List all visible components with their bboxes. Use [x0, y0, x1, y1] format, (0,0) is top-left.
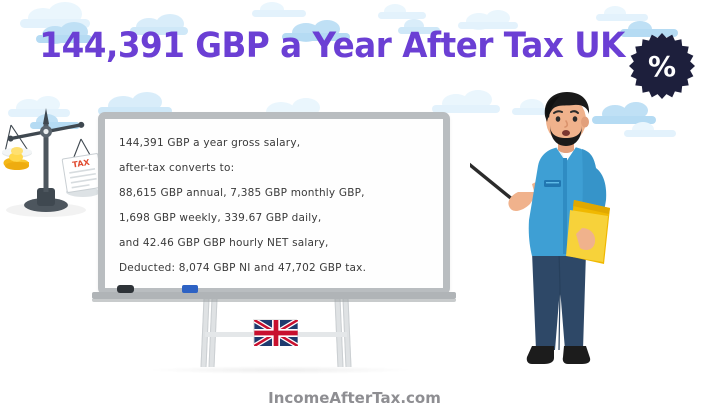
board-line: 1,698 GBP weekly, 339.67 GBP daily, [119, 206, 433, 231]
marker-icon [182, 285, 198, 293]
cloud-decoration [624, 120, 680, 138]
board-line: Deducted: 8,074 GBP NI and 47,702 GBP ta… [119, 256, 433, 281]
board-line: 144,391 GBP a year gross salary, [119, 131, 433, 156]
board-line: 88,615 GBP annual, 7,385 GBP monthly GBP… [119, 181, 433, 206]
teacher-character [470, 92, 620, 377]
eraser-icon [117, 285, 134, 293]
infographic-canvas: 144,391 GBP a Year After Tax UK % [0, 0, 709, 419]
board-line: after-tax converts to: [119, 156, 433, 181]
site-footer: IncomeAfterTax.com [0, 389, 709, 407]
svg-text:%: % [648, 50, 676, 83]
whiteboard-tray [92, 292, 456, 299]
cloud-decoration [20, 2, 98, 28]
percent-badge-icon: % [628, 32, 696, 100]
whiteboard-text: 144,391 GBP a year gross salary, after-t… [119, 131, 433, 281]
cloud-decoration [596, 4, 652, 22]
balance-scales-icon: TAX [2, 104, 110, 222]
board-line: and 42.46 GBP GBP hourly NET salary, [119, 231, 433, 256]
cloud-decoration [378, 2, 430, 20]
pointer-stick-icon [470, 156, 518, 204]
floor-shadow [150, 366, 410, 374]
whiteboard-surface: 144,391 GBP a year gross salary, after-t… [105, 119, 443, 288]
page-title: 144,391 GBP a Year After Tax UK [25, 26, 684, 66]
whiteboard: 144,391 GBP a year gross salary, after-t… [98, 112, 450, 295]
cloud-decoration [252, 0, 310, 18]
whiteboard-tray-shadow [92, 299, 456, 302]
uk-flag-icon [253, 319, 297, 345]
